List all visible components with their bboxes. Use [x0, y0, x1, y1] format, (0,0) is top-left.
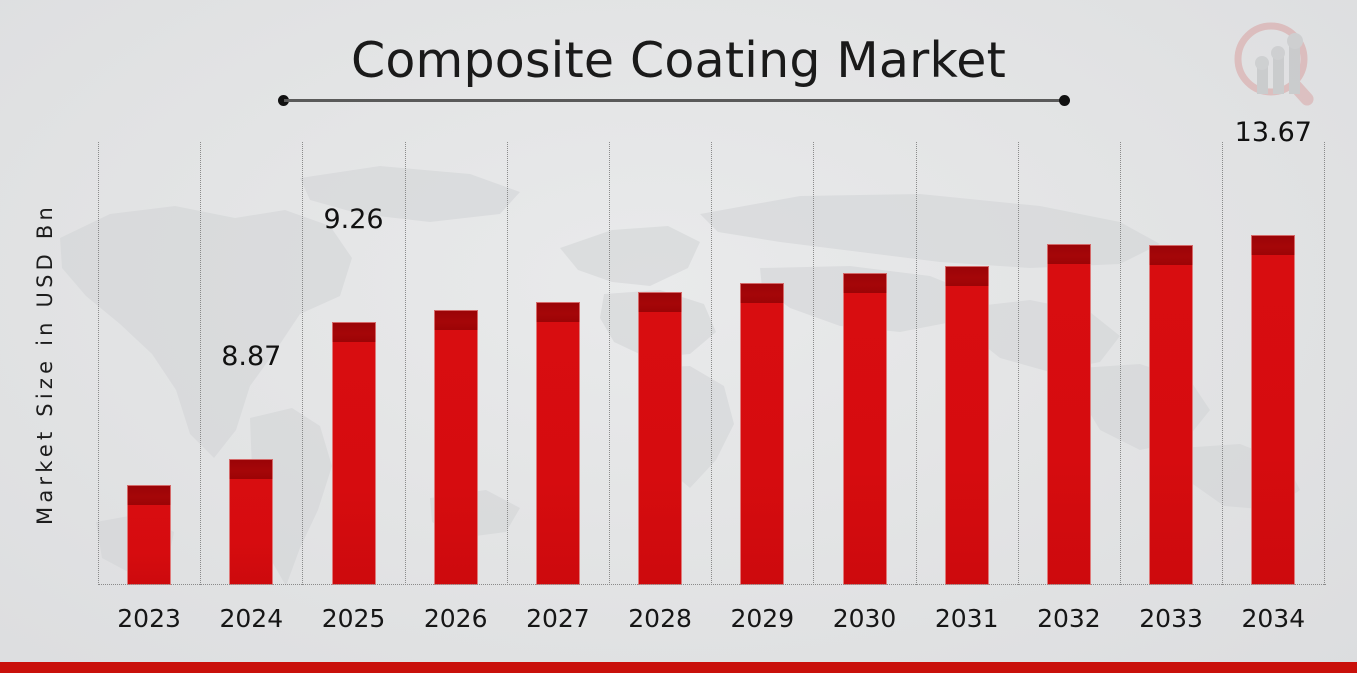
bar-cap — [332, 322, 376, 342]
bar-body — [332, 342, 376, 585]
bar-cap — [638, 292, 682, 312]
bar-body — [434, 330, 478, 585]
grid-line — [98, 142, 99, 585]
grid-line — [1018, 142, 1019, 585]
grid-line — [916, 142, 917, 585]
data-label-2025: 9.26 — [279, 204, 429, 235]
bar-2034[interactable] — [1251, 235, 1295, 585]
grid-line — [507, 142, 508, 585]
data-label-2024: 8.87 — [176, 341, 326, 372]
bar-2024[interactable] — [229, 459, 273, 585]
bar-cap — [945, 266, 989, 286]
data-label-2034: 13.67 — [1198, 117, 1348, 148]
grid-line — [813, 142, 814, 585]
x-axis-label-2034: 2034 — [1213, 604, 1333, 633]
y-axis-title: Market Size in USD Bn — [33, 129, 57, 599]
bar-cap — [536, 302, 580, 322]
bar-2030[interactable] — [843, 273, 887, 585]
rule-right-dot-icon — [1059, 95, 1070, 106]
title-underline-rule — [278, 95, 1070, 105]
footer-accent-strip — [0, 662, 1357, 673]
bar-body — [536, 322, 580, 585]
bar-cap — [1149, 245, 1193, 265]
bar-2029[interactable] — [740, 283, 784, 585]
bar-2027[interactable] — [536, 302, 580, 585]
bar-2033[interactable] — [1149, 245, 1193, 585]
grid-line — [1222, 142, 1223, 585]
chart-canvas: Composite Coating Market Market Size in … — [0, 0, 1357, 673]
grid-line — [609, 142, 610, 585]
bar-cap — [843, 273, 887, 293]
bar-cap — [434, 310, 478, 330]
bar-body — [1047, 264, 1091, 585]
bar-2031[interactable] — [945, 266, 989, 585]
x-axis-baseline — [98, 584, 1326, 585]
bar-cap — [229, 459, 273, 479]
page-title: Composite Coating Market — [0, 32, 1357, 89]
bar-body — [843, 293, 887, 585]
grid-line — [1120, 142, 1121, 585]
bar-cap — [1047, 244, 1091, 264]
bar-2023[interactable] — [127, 485, 171, 585]
bar-2028[interactable] — [638, 292, 682, 585]
bar-body — [1251, 255, 1295, 585]
bar-body — [1149, 265, 1193, 585]
bar-cap — [740, 283, 784, 303]
bar-cap — [1251, 235, 1295, 255]
grid-line — [711, 142, 712, 585]
grid-line — [1324, 142, 1325, 585]
bar-cap — [127, 485, 171, 505]
bar-body — [229, 479, 273, 585]
bar-2026[interactable] — [434, 310, 478, 585]
bar-2032[interactable] — [1047, 244, 1091, 585]
bar-body — [945, 286, 989, 585]
bar-body — [638, 312, 682, 585]
rule-line — [284, 99, 1064, 102]
bar-body — [127, 505, 171, 585]
bar-body — [740, 303, 784, 585]
bar-2025[interactable] — [332, 322, 376, 585]
